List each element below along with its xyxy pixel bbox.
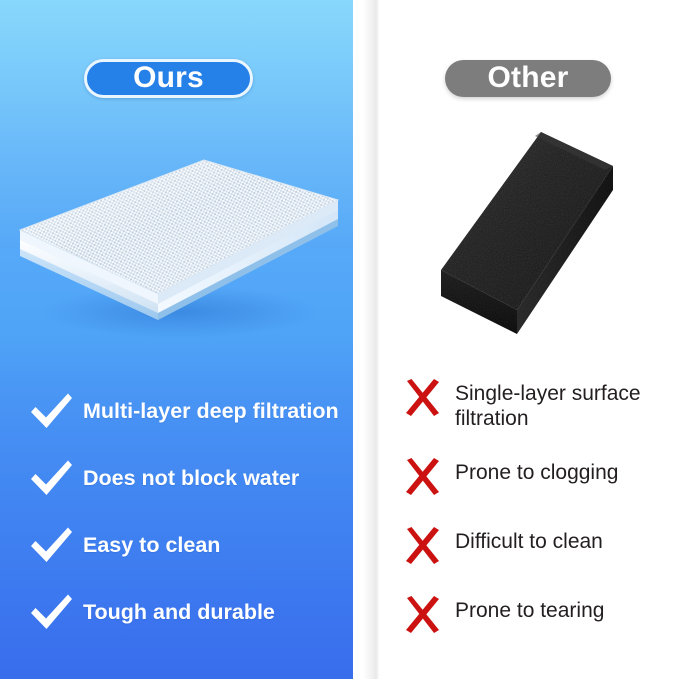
ours-badge: Ours — [84, 59, 253, 98]
list-item-label: Prone to clogging — [455, 458, 618, 485]
list-item: Easy to clean — [28, 526, 220, 566]
check-icon — [28, 526, 74, 566]
check-icon — [28, 593, 74, 633]
x-icon — [402, 596, 444, 636]
comparison-infographic: Ours — [0, 0, 679, 679]
list-item-label: Multi-layer deep filtration — [83, 392, 339, 424]
other-badge: Other — [445, 60, 611, 97]
x-icon — [402, 379, 444, 419]
list-item: Multi-layer deep filtration — [28, 392, 339, 432]
list-item: Single-layer surface filtration — [402, 379, 672, 431]
ours-panel: Ours — [0, 0, 353, 679]
other-panel: Other — [353, 0, 679, 679]
x-icon — [402, 527, 444, 567]
list-item: Prone to clogging — [402, 458, 672, 498]
black-foam-block-illustration — [413, 120, 633, 350]
list-item-label: Prone to tearing — [455, 596, 604, 623]
list-item-label: Tough and durable — [83, 593, 275, 625]
list-item-label: Difficult to clean — [455, 527, 603, 554]
list-item: Does not block water — [28, 459, 299, 499]
list-item-label: Easy to clean — [83, 526, 220, 558]
list-item-label: Single-layer surface filtration — [455, 379, 672, 431]
list-item: Difficult to clean — [402, 527, 672, 567]
check-icon — [28, 392, 74, 432]
list-item: Prone to tearing — [402, 596, 672, 636]
mesh-filter-pad-illustration — [8, 150, 348, 350]
list-item-label: Does not block water — [83, 459, 299, 491]
other-badge-label: Other — [487, 63, 568, 93]
other-product-image — [413, 120, 633, 350]
ours-badge-label: Ours — [133, 63, 204, 93]
check-icon — [28, 459, 74, 499]
x-icon — [402, 458, 444, 498]
ours-product-image — [8, 150, 348, 350]
list-item: Tough and durable — [28, 593, 275, 633]
